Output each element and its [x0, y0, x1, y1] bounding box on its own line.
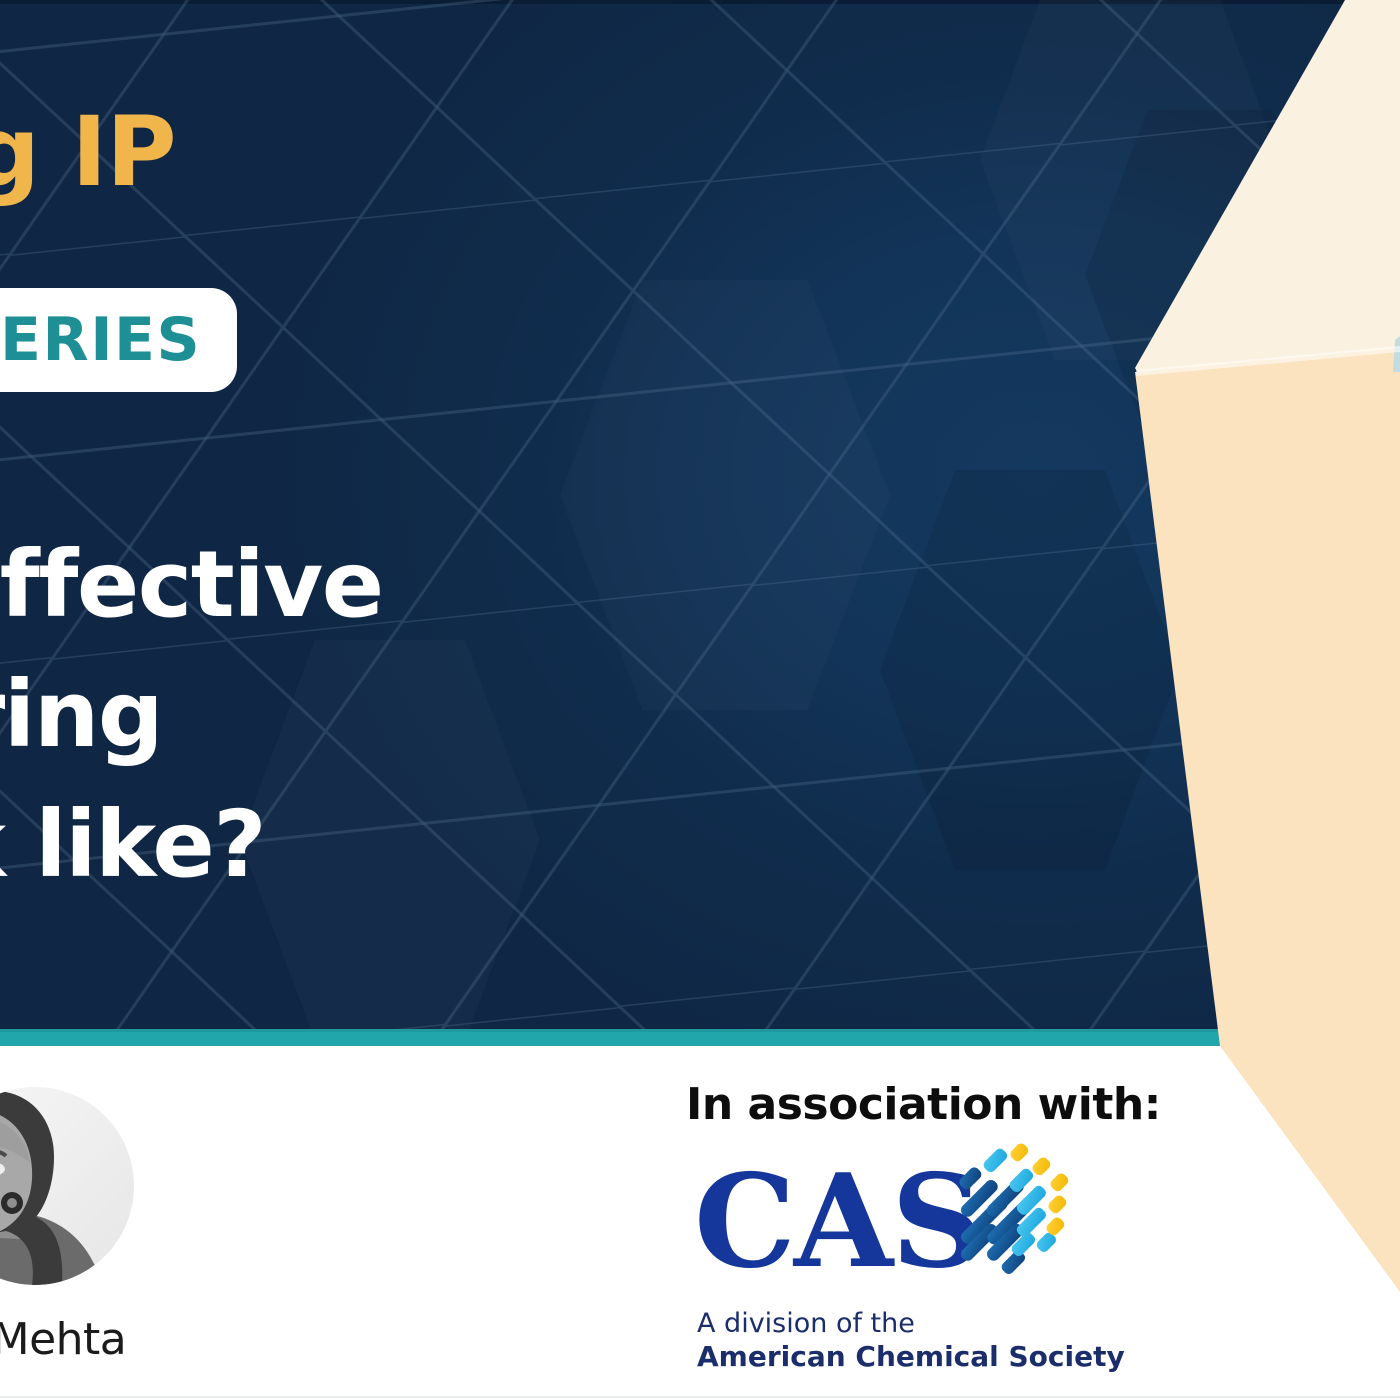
hero-panel: ng IP ERIES s an effective onitoring e l…	[0, 0, 1400, 1030]
series-badge-label: ERIES	[0, 305, 201, 375]
cas-wordmark: CAS	[694, 1158, 982, 1286]
association-label: In association with:	[686, 1079, 1161, 1130]
headline-line-1: s an effective	[0, 520, 850, 650]
headline-line-3: e look like?	[0, 780, 850, 910]
speaker-names: l, and Rani Mehta	[0, 1314, 450, 1365]
slide-canvas: ng IP ERIES s an effective onitoring e l…	[0, 0, 1400, 1400]
headline-line-2: onitoring	[0, 650, 850, 780]
series-kicker-title: ng IP	[0, 104, 176, 200]
series-badge: ERIES	[0, 288, 237, 392]
cas-hexagon-dots-logo	[952, 1140, 1092, 1280]
teal-divider-shade	[0, 1029, 1400, 1032]
cas-subtitle-line-2: American Chemical Society	[697, 1340, 1125, 1373]
headline: s an effective onitoring e look like?	[0, 520, 850, 910]
bottom-border-line	[0, 1396, 1400, 1398]
partner-logo-cas: CAS	[694, 1140, 1094, 1380]
cas-subtitle-line-1: A division of the	[697, 1308, 915, 1339]
